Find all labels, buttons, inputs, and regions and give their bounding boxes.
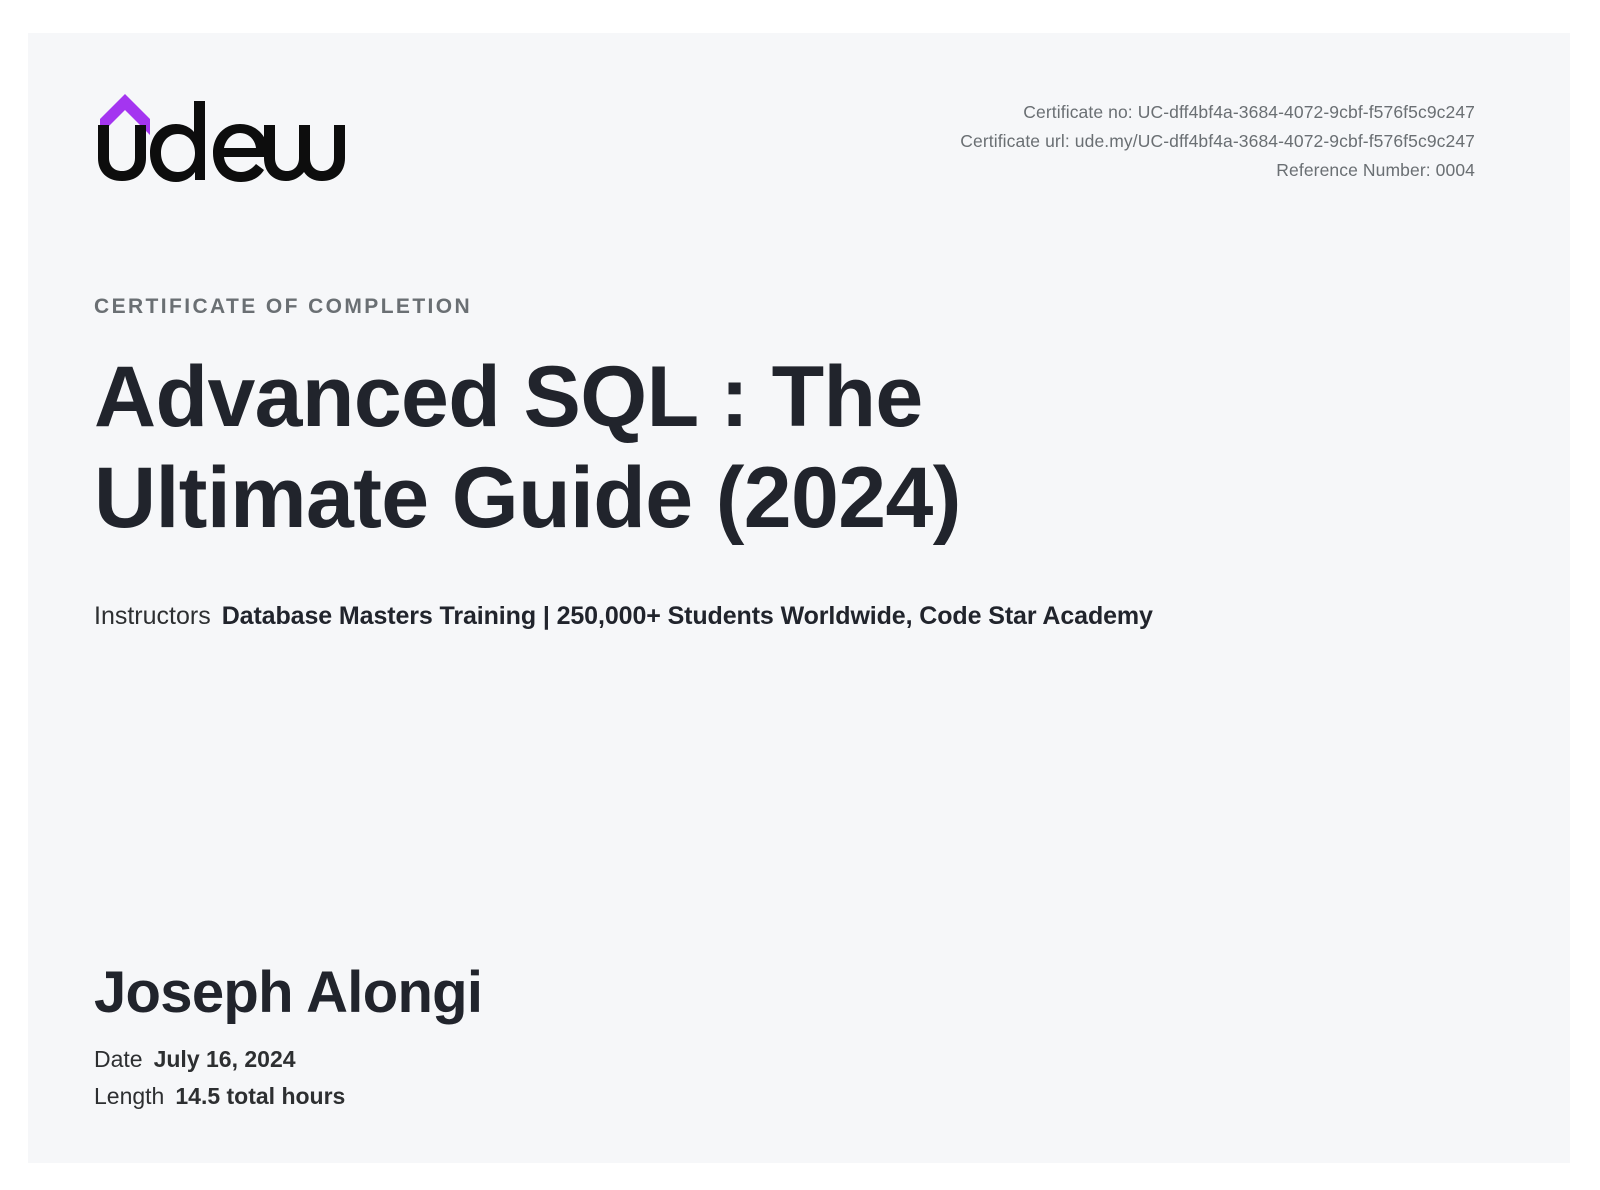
- length-value: 14.5 total hours: [175, 1083, 345, 1109]
- instructors-row: InstructorsDatabase Masters Training | 2…: [94, 600, 1510, 633]
- certificate-metadata: Certificate no: UC-dff4bf4a-3684-4072-9c…: [960, 98, 1475, 185]
- course-title: Advanced SQL : The Ultimate Guide (2024): [94, 347, 1184, 548]
- instructors-label: Instructors: [94, 602, 211, 630]
- certificate-header: Certificate no: UC-dff4bf4a-3684-4072-9c…: [28, 33, 1570, 213]
- certificate-card: Certificate no: UC-dff4bf4a-3684-4072-9c…: [28, 33, 1570, 1163]
- certificate-body: CERTIFICATE OF COMPLETION Advanced SQL :…: [94, 295, 1510, 633]
- length-label: Length: [94, 1083, 164, 1109]
- length-row: Length14.5 total hours: [94, 1078, 482, 1115]
- instructors-names: Database Masters Training | 250,000+ Stu…: [222, 602, 1153, 630]
- certificate-footer: Joseph Alongi DateJuly 16, 2024 Length14…: [94, 961, 482, 1115]
- certificate-kicker: CERTIFICATE OF COMPLETION: [94, 295, 1510, 319]
- certificate-number: Certificate no: UC-dff4bf4a-3684-4072-9c…: [960, 98, 1475, 127]
- recipient-name: Joseph Alongi: [94, 961, 482, 1025]
- date-label: Date: [94, 1046, 143, 1072]
- date-row: DateJuly 16, 2024: [94, 1041, 482, 1078]
- certificate-url[interactable]: Certificate url: ude.my/UC-dff4bf4a-3684…: [960, 127, 1475, 156]
- date-value: July 16, 2024: [154, 1046, 296, 1072]
- udemy-logo-icon: [94, 85, 354, 185]
- udemy-logo: [94, 85, 354, 185]
- reference-number: Reference Number: 0004: [960, 156, 1475, 185]
